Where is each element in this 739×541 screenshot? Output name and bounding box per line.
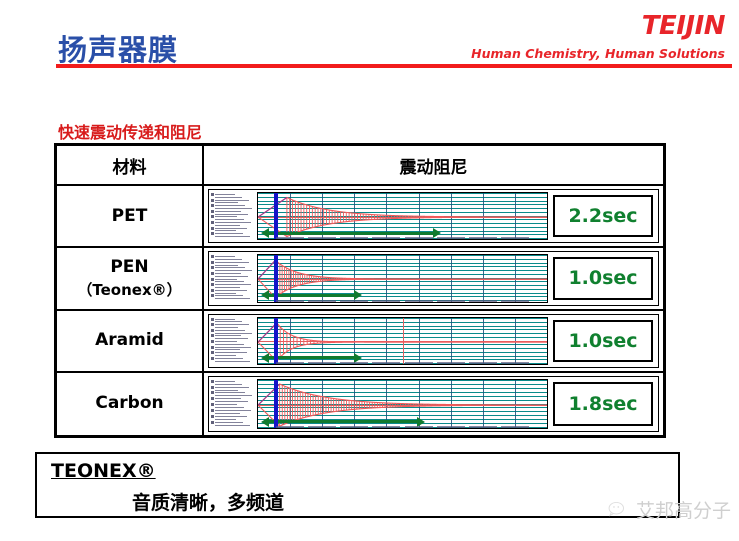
material-name: PET — [112, 206, 148, 227]
axis-tick-labels — [211, 192, 257, 240]
table-row: PEN （Teonex®） 1.0sec — [57, 248, 663, 310]
chart-cell: 1.0sec — [204, 248, 663, 308]
damping-value-box: 1.0sec — [553, 320, 653, 362]
waveform-plot — [257, 317, 548, 365]
material-cell: PEN （Teonex®） — [57, 248, 204, 308]
conclusion-text: 音质清晰，多频道 — [132, 488, 284, 515]
header-divider — [56, 64, 732, 68]
table-row: Aramid 1.0sec — [57, 311, 663, 373]
teijin-logo: TEIJIN — [642, 11, 725, 41]
damping-value-box: 1.0sec — [553, 257, 653, 299]
column-header-material-label: 材料 — [113, 153, 147, 178]
table-row: PET 2.2sec — [57, 186, 663, 248]
chart-block: 1.0sec — [208, 314, 659, 368]
plot-wrapper — [211, 254, 548, 302]
damping-value: 1.0sec — [568, 267, 637, 289]
table-header-row: 材料 震动阻尼 — [57, 146, 663, 186]
axis-tick-labels — [211, 317, 257, 365]
slide-root: 扬声器膜 TEIJIN Human Chemistry, Human Solut… — [0, 0, 739, 541]
axis-tick-labels — [211, 379, 257, 429]
plot-wrapper — [211, 192, 548, 240]
material-cell: PET — [57, 186, 204, 246]
waveform-plot — [257, 379, 548, 429]
chart-cell: 1.0sec — [204, 311, 663, 371]
plot-wrapper — [211, 379, 548, 429]
plot-wrapper — [211, 317, 548, 365]
chart-cell: 2.2sec — [204, 186, 663, 246]
waveform-plot — [257, 254, 548, 302]
conclusion-title: TEONEX® — [51, 460, 156, 482]
section-subtitle: 快速震动传递和阻尼 — [58, 119, 202, 143]
page-title: 扬声器膜 — [58, 27, 178, 69]
conclusion-box: TEONEX® 音质清晰，多频道 — [35, 452, 680, 518]
column-header-damping: 震动阻尼 — [204, 146, 663, 184]
material-name: Carbon — [95, 393, 163, 414]
material-name: PEN — [77, 257, 181, 278]
material-subname: （Teonex®） — [77, 279, 181, 300]
column-header-damping-label: 震动阻尼 — [400, 153, 468, 178]
material-cell: Carbon — [57, 373, 204, 435]
column-header-material: 材料 — [57, 146, 204, 184]
chart-block: 2.2sec — [208, 189, 659, 243]
damping-value: 1.0sec — [568, 330, 637, 352]
damping-value: 2.2sec — [568, 205, 637, 227]
material-cell: Aramid — [57, 311, 204, 371]
damping-table: 材料 震动阻尼 PET 2.2sec — [54, 143, 666, 438]
damping-value: 1.8sec — [568, 393, 637, 415]
damping-value-box: 1.8sec — [553, 382, 653, 426]
chart-cell: 1.8sec — [204, 373, 663, 435]
table-row: Carbon 1.8sec — [57, 373, 663, 435]
chart-block: 1.0sec — [208, 251, 659, 305]
axis-tick-labels — [211, 254, 257, 302]
material-name: Aramid — [95, 330, 164, 351]
damping-value-box: 2.2sec — [553, 195, 653, 237]
brand-tagline: Human Chemistry, Human Solutions — [471, 46, 725, 61]
chart-block: 1.8sec — [208, 376, 659, 432]
waveform-plot — [257, 192, 548, 240]
